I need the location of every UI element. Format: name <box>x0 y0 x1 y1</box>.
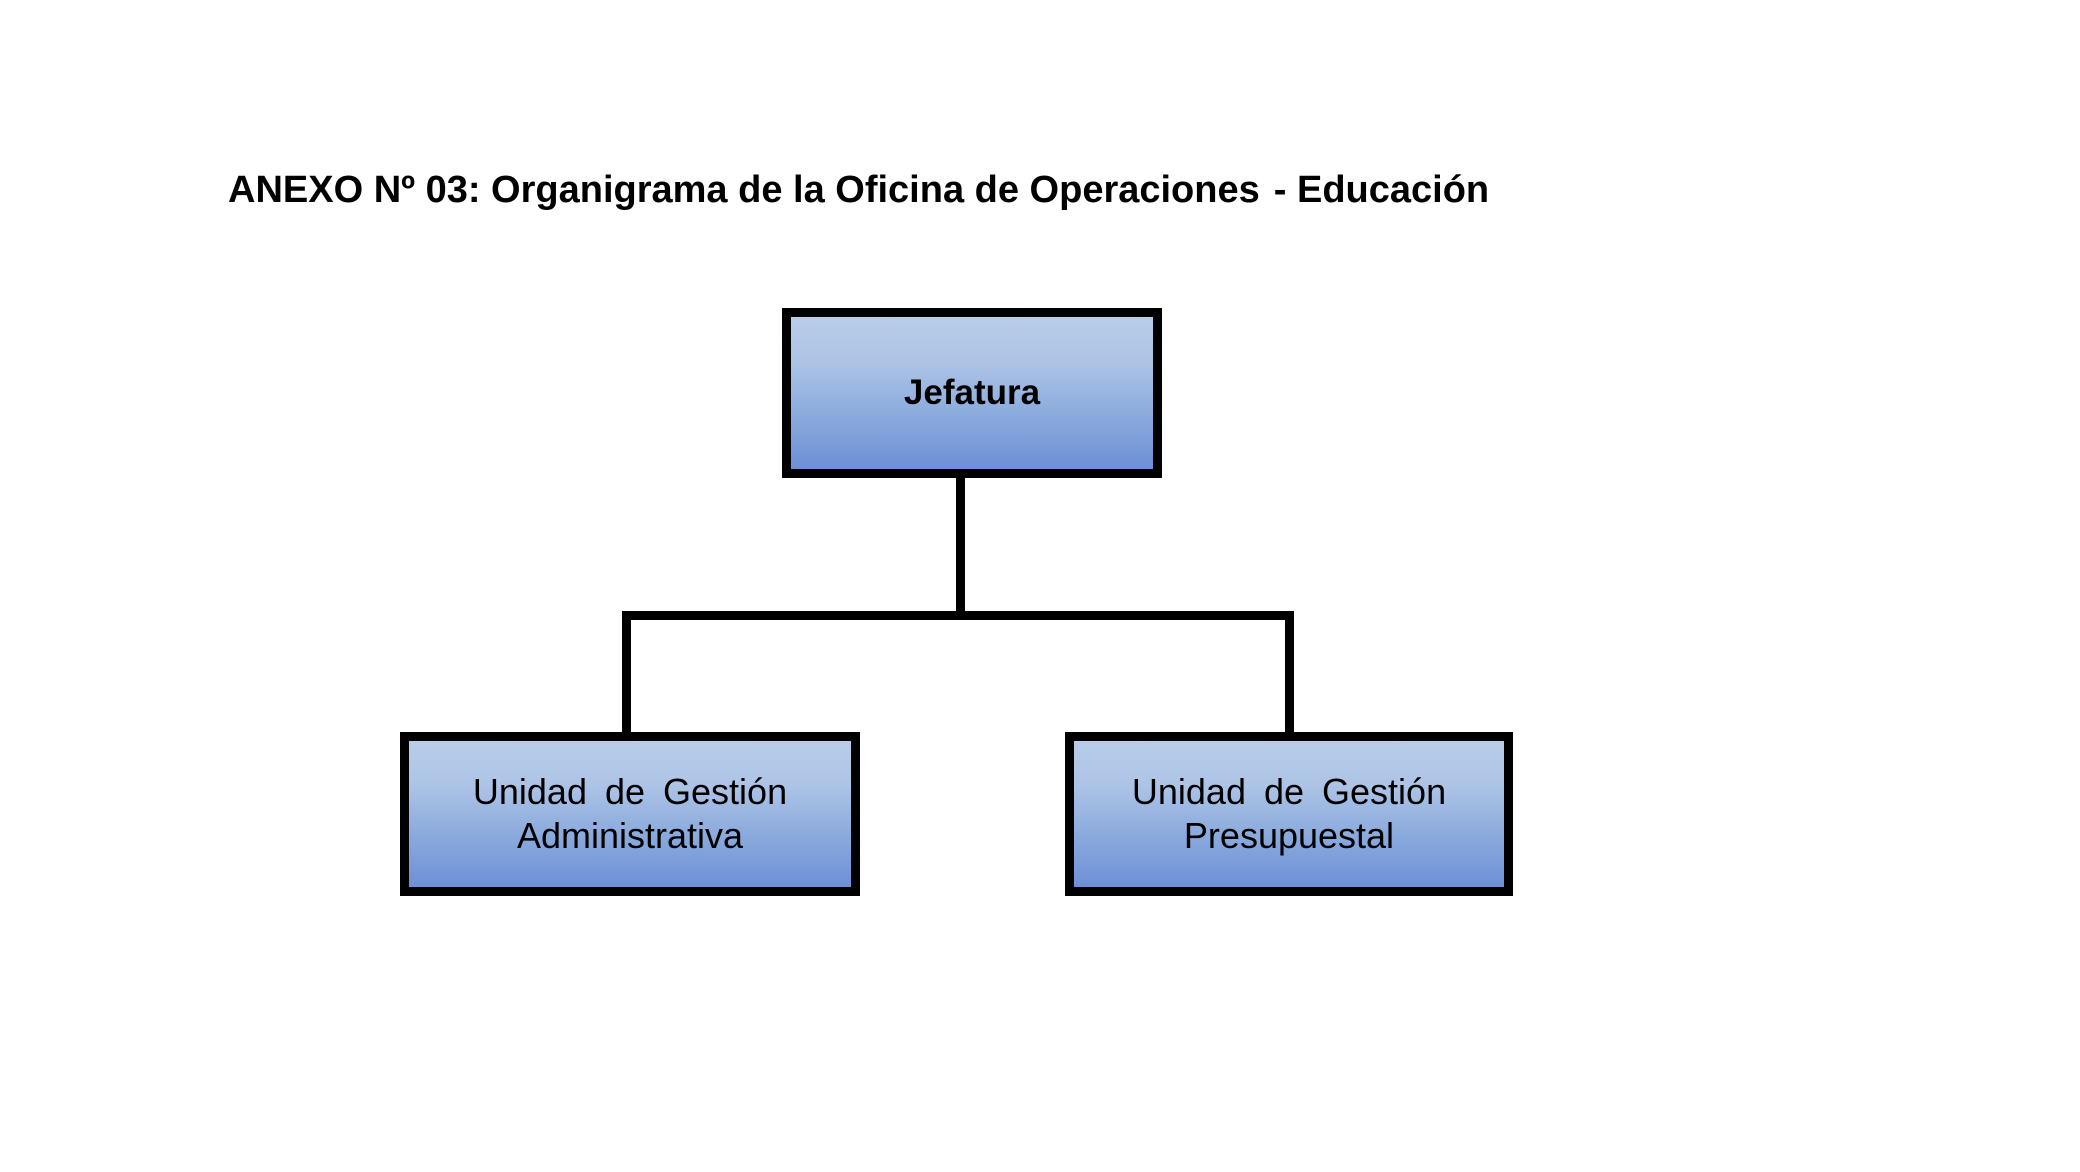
org-node-jefatura-label: Jefatura <box>898 372 1046 415</box>
connector-trunk-vertical <box>956 470 965 620</box>
connector-drop-right <box>1285 611 1294 739</box>
page-title-suffix: - Educación <box>1274 169 1489 211</box>
connector-drop-left <box>622 611 631 739</box>
page-title: ANEXO Nº 03: Organigrama de la Oficina d… <box>228 168 1489 214</box>
org-node-jefatura[interactable]: Jefatura <box>782 308 1162 478</box>
connector-horizontal-crossbar <box>622 611 1294 620</box>
org-chart-canvas: ANEXO Nº 03: Organigrama de la Oficina d… <box>0 0 2080 1172</box>
org-node-unidad-gestion-administrativa-label: Unidad de Gestión Administrativa <box>467 770 793 858</box>
page-title-main: ANEXO Nº 03: Organigrama de la Oficina d… <box>228 169 1260 211</box>
org-node-unidad-gestion-presupuestal-label: Unidad de Gestión Presupuestal <box>1126 770 1452 858</box>
org-node-unidad-gestion-administrativa[interactable]: Unidad de Gestión Administrativa <box>400 732 860 896</box>
org-node-unidad-gestion-presupuestal[interactable]: Unidad de Gestión Presupuestal <box>1065 732 1513 896</box>
